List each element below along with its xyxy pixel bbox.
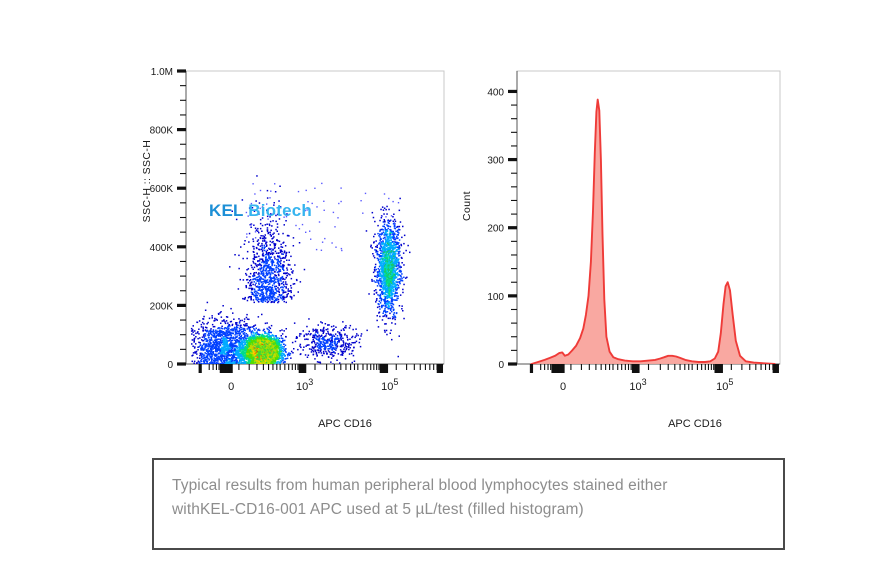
scatter-plot-panel: SSC-H :: SSC-H 1.0M800K600K400K200K0 010… [100, 60, 450, 440]
svg-text:103: 103 [296, 377, 313, 393]
histogram-canvas: 4003002001000 0103105 [440, 60, 800, 415]
flow-cytometry-figure: SSC-H :: SSC-H 1.0M800K600K400K200K0 010… [0, 0, 878, 570]
histogram-y-axis-title: Count [461, 161, 473, 251]
svg-text:1.0M: 1.0M [151, 67, 173, 78]
histogram-plot-frame [517, 71, 780, 364]
svg-text:600K: 600K [150, 184, 174, 195]
caption-text: Typical results from human peripheral bl… [172, 474, 765, 522]
caption-box: Typical results from human peripheral bl… [152, 458, 785, 550]
svg-text:400K: 400K [150, 243, 174, 254]
scatter-y-axis: 1.0M800K600K400K200K0 [150, 67, 186, 371]
histogram-y-axis: 4003002001000 [487, 71, 517, 371]
histogram-x-axis: 0103105 [517, 364, 780, 393]
svg-text:0: 0 [228, 381, 234, 393]
svg-text:800K: 800K [150, 126, 174, 137]
svg-text:105: 105 [381, 377, 398, 393]
scatter-x-axis: 0103105 [186, 364, 444, 393]
caption-line-2: withKEL-CD16-001 APC used at 5 µL/test (… [172, 498, 765, 522]
scatter-y-axis-title: SSC-H :: SSC-H [141, 121, 153, 241]
svg-text:0: 0 [167, 360, 173, 371]
svg-text:200K: 200K [150, 301, 174, 312]
histogram-x-axis-title: APC CD16 [570, 418, 820, 430]
caption-line-1: Typical results from human peripheral bl… [172, 474, 765, 498]
histogram-panel: Count 4003002001000 0103105 KEL Biotech … [440, 60, 800, 440]
scatter-x-axis-title: APC CD16 [220, 418, 470, 430]
